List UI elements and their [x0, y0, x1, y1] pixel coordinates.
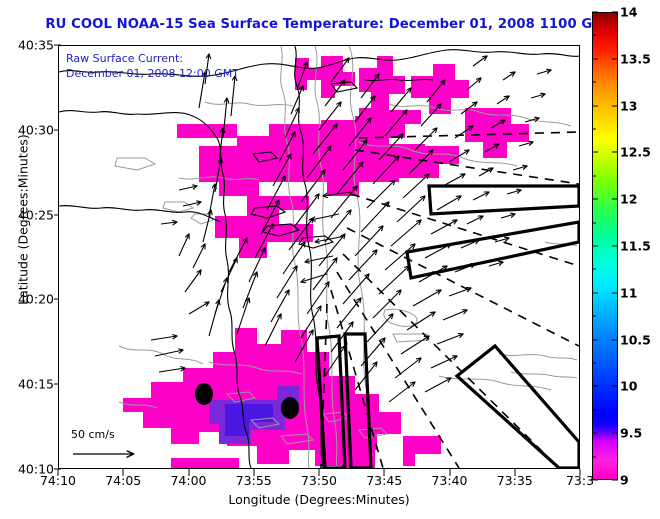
y-tick-label: 40:15	[18, 377, 54, 392]
colorbar-tick-label: 14	[620, 5, 637, 20]
y-tick-label: 40:35	[18, 38, 54, 53]
colorbar-minor-tick	[592, 105, 596, 106]
figure-title: RU COOL NOAA-15 Sea Surface Temperature:…	[0, 17, 660, 32]
subtitle-line-1: Raw Surface Current:	[66, 51, 239, 66]
subtitle-block: Raw Surface Current: December 01, 2008 1…	[66, 51, 239, 81]
colorbar-minor-tick	[592, 433, 596, 434]
sst-raster-patches	[123, 56, 529, 468]
colorbar-minor-tick	[592, 58, 596, 59]
velocity-scale-legend: 50 cm/s	[71, 428, 167, 468]
colorbar-minor-tick	[592, 152, 596, 153]
colorbar-tick-mark-right	[612, 386, 618, 387]
colorbar-tick-mark-right	[612, 12, 618, 13]
colorbar-tick-mark-right	[612, 339, 618, 340]
x-tick-mark	[449, 469, 450, 476]
colorbar-tick-mark-right	[612, 199, 618, 200]
x-tick-mark	[580, 469, 581, 476]
colorbar-minor-tick	[592, 222, 596, 223]
x-axis-ticks: 74:1074:0574:0073:5573:5073:4573:4073:35…	[58, 473, 580, 491]
colorbar-minor-tick	[592, 246, 596, 247]
x-tick-mark	[319, 469, 320, 476]
x-axis-label: Longitude (Degrees:Minutes)	[58, 492, 580, 507]
colorbar-minor-tick	[592, 409, 596, 410]
colorbar-tick-label: 9	[620, 473, 629, 488]
y-tick-label: 40:20	[18, 292, 54, 307]
colorbar-minor-tick	[592, 316, 596, 317]
colorbar-tick-label: 13.5	[620, 51, 651, 66]
colorbar-tick-label: 10	[620, 379, 637, 394]
x-tick-mark	[58, 469, 59, 476]
colorbar-tick-label: 12.5	[620, 145, 651, 160]
colorbar-minor-tick	[592, 175, 596, 176]
x-tick-mark	[253, 469, 254, 476]
colorbar-tick-mark-right	[612, 152, 618, 153]
colorbar-minor-tick	[592, 12, 596, 13]
colorbar-tick-mark-right	[612, 246, 618, 247]
x-tick-mark	[123, 469, 124, 476]
colorbar-minor-tick	[592, 480, 596, 481]
colorbar-minor-tick	[592, 456, 596, 457]
colorbar-minor-tick	[592, 386, 596, 387]
velocity-scale-arrow-icon	[71, 444, 167, 468]
map-plot-area[interactable]: Raw Surface Current: December 01, 2008 1…	[58, 45, 580, 469]
colorbar-tick-label: 13	[620, 98, 637, 113]
sst-map-figure: RU COOL NOAA-15 Sea Surface Temperature:…	[0, 0, 660, 519]
colorbar-tick-mark-right	[612, 480, 618, 481]
x-tick-mark	[188, 469, 189, 476]
colorbar-tick-label: 9.5	[620, 426, 642, 441]
colorbar-minor-tick	[592, 339, 596, 340]
colorbar-tick-mark-right	[612, 105, 618, 106]
colorbar-tick-mark-right	[612, 433, 618, 434]
colorbar-minor-tick	[592, 82, 596, 83]
y-tick-label: 40:30	[18, 122, 54, 137]
x-tick-mark	[384, 469, 385, 476]
colorbar-tick-label: 11.5	[620, 239, 651, 254]
colorbar-tick-mark-right	[612, 58, 618, 59]
x-tick-mark	[514, 469, 515, 476]
colorbar-tick-mark-right	[612, 292, 618, 293]
colorbar-minor-tick	[592, 269, 596, 270]
y-tick-label: 40:25	[18, 207, 54, 222]
colorbar-minor-tick	[592, 129, 596, 130]
colorbar-minor-tick	[592, 199, 596, 200]
subtitle-line-2: December 01, 2008 12:00 GMT	[66, 66, 239, 81]
colorbar-minor-tick	[592, 363, 596, 364]
velocity-scale-label: 50 cm/s	[71, 428, 115, 441]
colorbar-minor-tick	[592, 35, 596, 36]
map-canvas	[59, 46, 579, 468]
colorbar-tick-label: 11	[620, 285, 637, 300]
colorbar-tick-label: 12	[620, 192, 637, 207]
colorbar-minor-tick	[592, 292, 596, 293]
y-axis-ticks: 40:3540:3040:2540:2040:1540:10	[0, 45, 54, 469]
colorbar-tick-label: 10.5	[620, 332, 651, 347]
